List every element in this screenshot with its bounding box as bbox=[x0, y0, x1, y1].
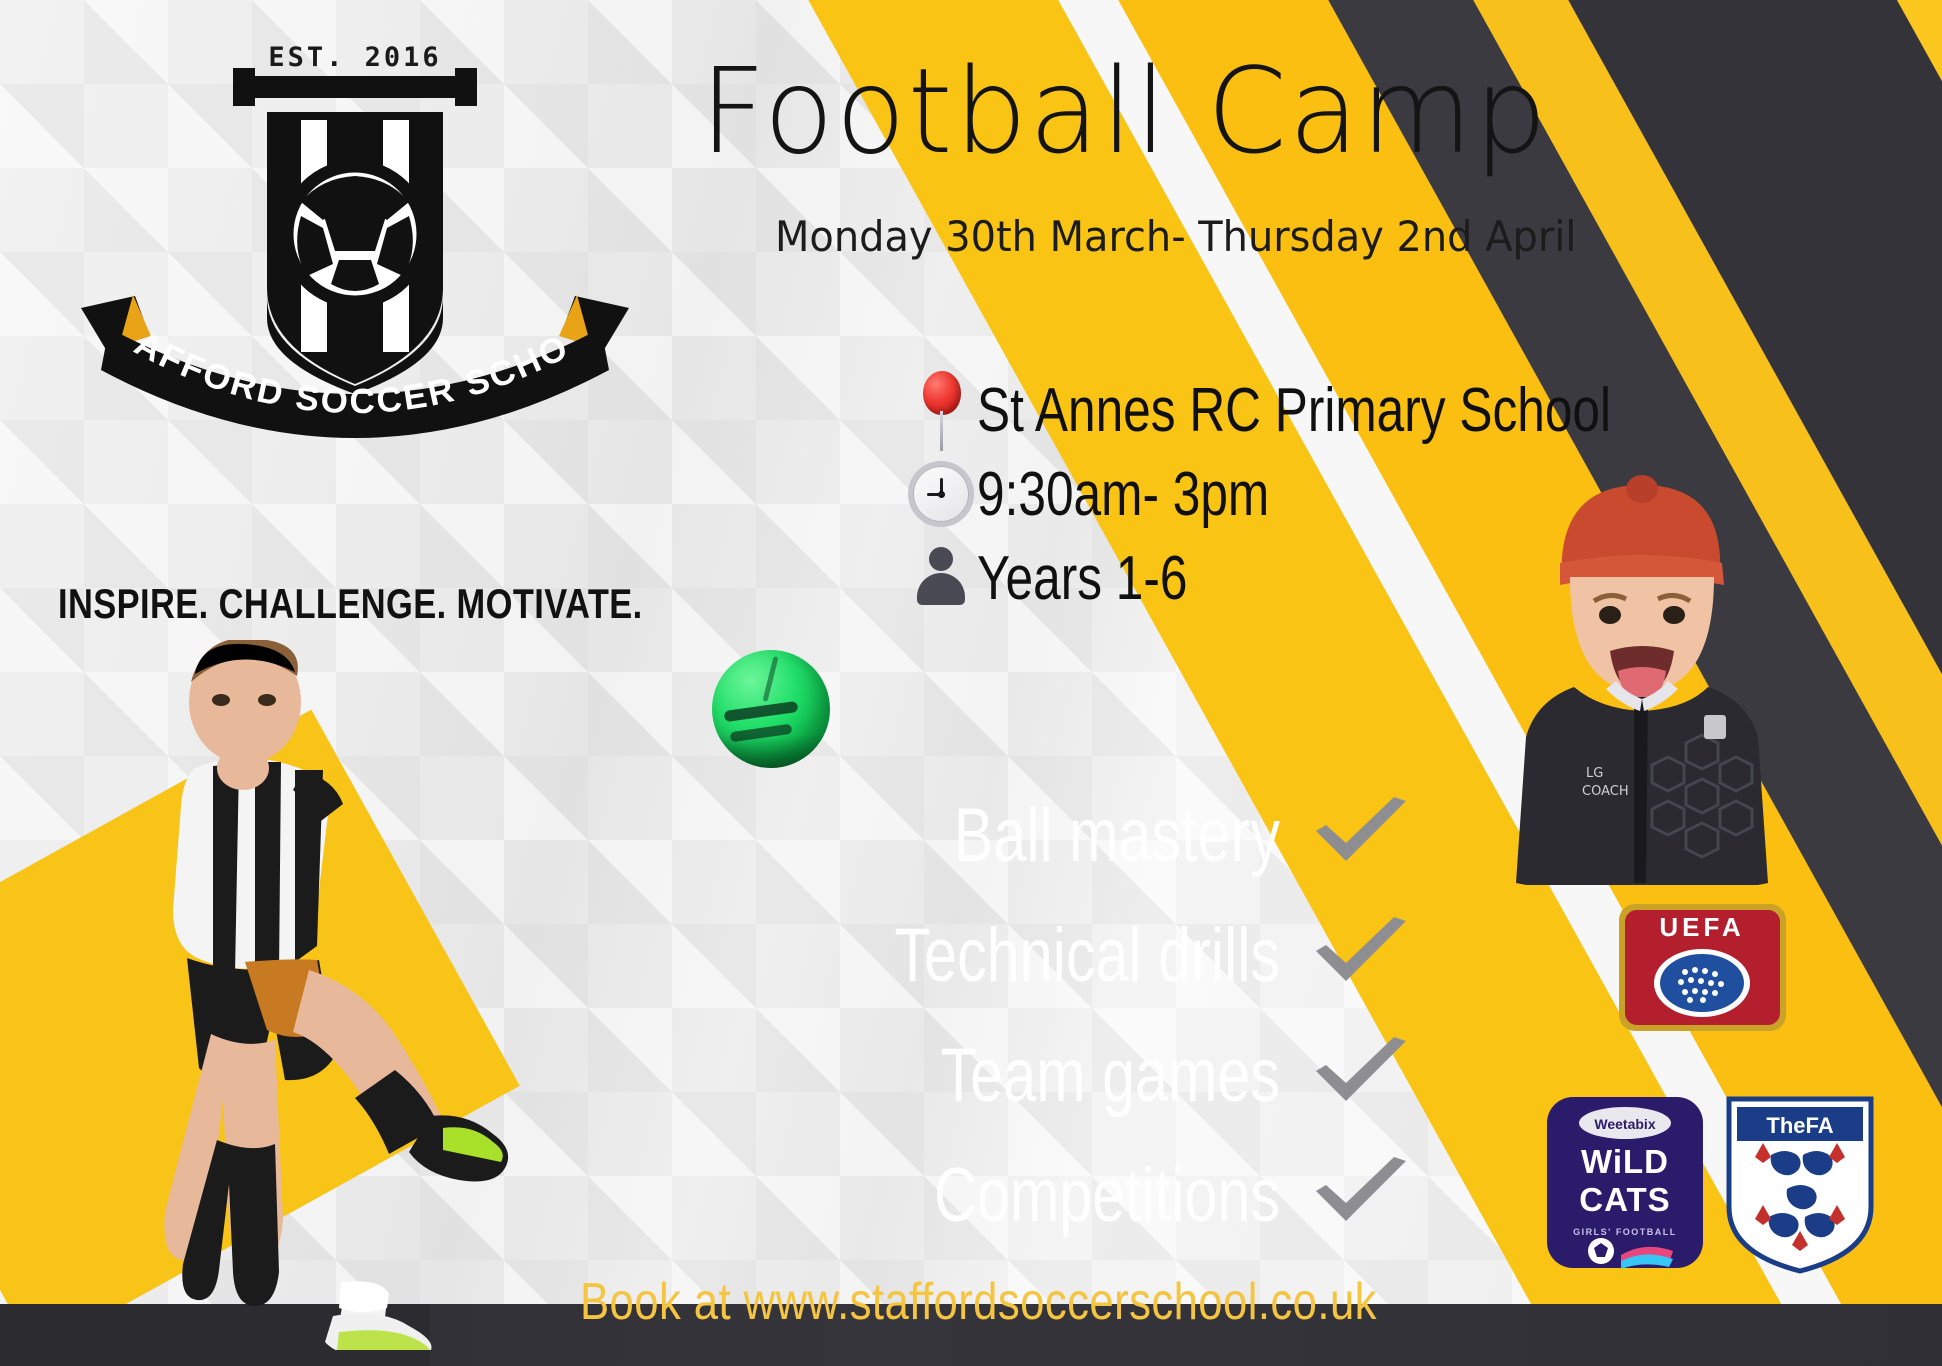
detail-row-time: 9:30am- 3pm bbox=[905, 452, 1770, 536]
thefa-label: TheFA bbox=[1766, 1113, 1833, 1138]
detail-time-text: 9:30am- 3pm bbox=[977, 459, 1269, 530]
check-icon bbox=[1306, 1035, 1416, 1115]
weetabix-label: Weetabix bbox=[1594, 1116, 1655, 1132]
club-name-ribbon: STAFFORD SOCCER SCHOOL bbox=[75, 292, 635, 482]
ball-seam bbox=[763, 656, 779, 702]
wildcats-logo: Weetabix WiLD CATS GIRLS' FOOTBALL bbox=[1545, 1095, 1705, 1270]
feature-list: Ball mastery Technical drills Team games… bbox=[760, 775, 1416, 1255]
person-icon bbox=[905, 547, 977, 609]
camp-dates: Monday 30th March- Thursday 2nd April bbox=[775, 212, 1576, 261]
ball-line-1 bbox=[724, 701, 799, 722]
feature-item: Technical drills bbox=[760, 895, 1416, 1015]
svg-text:COACH: COACH bbox=[1582, 784, 1629, 799]
wildcats-line-2: CATS bbox=[1579, 1181, 1670, 1218]
page-title: Football Camp bbox=[700, 42, 1549, 180]
club-logo: EST. 2016 bbox=[95, 22, 615, 422]
poster-canvas: LG COACH EST. 2016 bbox=[0, 0, 1942, 1366]
check-icon bbox=[1306, 795, 1416, 875]
detail-row-years: Years 1-6 bbox=[905, 536, 1770, 620]
feature-item: Ball mastery bbox=[760, 775, 1416, 895]
map-pin-icon bbox=[905, 371, 977, 449]
detail-years-text: Years 1-6 bbox=[977, 543, 1187, 614]
feature-label: Ball mastery bbox=[874, 792, 1280, 879]
check-icon bbox=[1306, 1155, 1416, 1235]
wildcats-line-1: WiLD bbox=[1581, 1143, 1669, 1180]
feature-label: Competitions bbox=[874, 1152, 1280, 1239]
feature-item: Team games bbox=[760, 1015, 1416, 1135]
wildcats-subtitle: GIRLS' FOOTBALL bbox=[1573, 1227, 1677, 1237]
green-football bbox=[712, 650, 830, 768]
svg-text:LG: LG bbox=[1586, 766, 1603, 781]
camp-details-list: St Annes RC Primary School 9:30am- 3pm Y… bbox=[905, 368, 1770, 620]
ball-shadow bbox=[712, 734, 830, 768]
booking-url[interactable]: Book at www.staffordsoccerschool.co.uk bbox=[580, 1272, 1377, 1332]
tagline: INSPIRE. CHALLENGE. MOTIVATE. bbox=[58, 580, 643, 628]
feature-label: Technical drills bbox=[874, 912, 1280, 999]
check-icon bbox=[1306, 915, 1416, 995]
clock-icon bbox=[905, 461, 977, 527]
uefa-logo: UEFA bbox=[1615, 900, 1790, 1035]
kicking-boy-photo bbox=[95, 640, 525, 1350]
thefa-logo: TheFA bbox=[1725, 1095, 1875, 1275]
feature-item: Competitions bbox=[760, 1135, 1416, 1255]
uefa-label: UEFA bbox=[1659, 912, 1744, 942]
detail-location-text: St Annes RC Primary School bbox=[977, 375, 1611, 446]
detail-row-location: St Annes RC Primary School bbox=[905, 368, 1770, 452]
feature-label: Team games bbox=[874, 1032, 1280, 1119]
